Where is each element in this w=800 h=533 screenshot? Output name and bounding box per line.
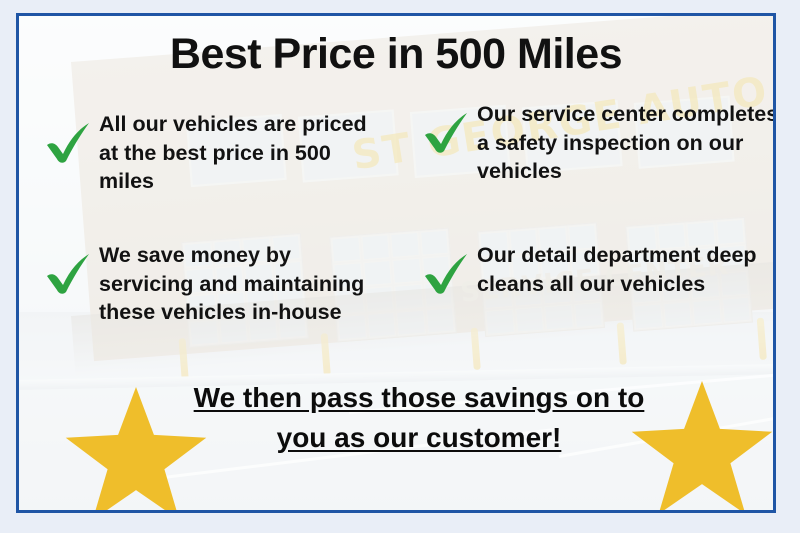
check-icon bbox=[419, 245, 475, 301]
check-icon bbox=[41, 114, 97, 170]
benefit-text: Our detail department deep cleans all ou… bbox=[477, 241, 764, 298]
page-title: Best Price in 500 Miles bbox=[19, 32, 773, 77]
benefit-item-pricing: All our vehicles are priced at the best … bbox=[41, 110, 371, 196]
benefit-text: Our service center completes a safety in… bbox=[477, 100, 776, 186]
benefit-item-safety-inspection: Our service center completes a safety in… bbox=[419, 100, 776, 186]
benefit-text: All our vehicles are priced at the best … bbox=[99, 110, 371, 196]
tagline-text: We then pass those savings on to you as … bbox=[194, 382, 645, 453]
poster-content: Best Price in 500 Miles All our vehicles… bbox=[19, 16, 773, 510]
star-icon bbox=[61, 384, 211, 513]
promo-poster: ST GEORGE AUTOgallery SERVICE CENTER Bes… bbox=[0, 0, 800, 533]
tagline: We then pass those savings on to you as … bbox=[189, 378, 649, 458]
poster-blue-frame: ST GEORGE AUTOgallery SERVICE CENTER Bes… bbox=[16, 13, 776, 513]
benefit-text: We save money by servicing and maintaini… bbox=[99, 241, 386, 327]
benefit-item-in-house-service: We save money by servicing and maintaini… bbox=[41, 241, 386, 327]
check-icon bbox=[419, 104, 475, 160]
star-icon bbox=[627, 378, 776, 513]
benefit-item-detailing: Our detail department deep cleans all ou… bbox=[419, 241, 764, 301]
check-icon bbox=[41, 245, 97, 301]
